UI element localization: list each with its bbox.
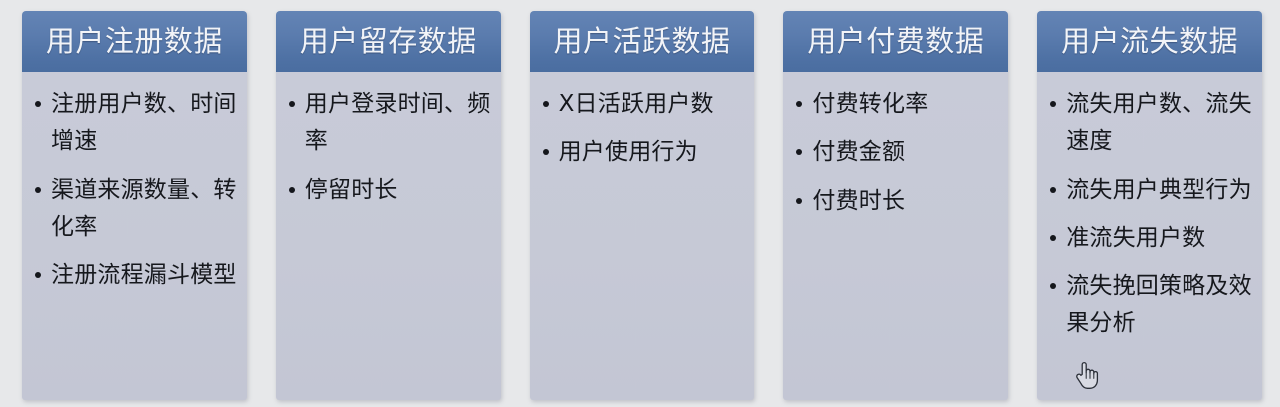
card-body-retention: 用户登录时间、频率 停留时长 (276, 72, 501, 400)
list-item-label: 流失用户数、流失速度 (1066, 91, 1252, 154)
list-item-label: 流失挽回策略及效果分析 (1066, 273, 1252, 336)
card-body-churn: 流失用户数、流失速度 流失用户典型行为 准流失用户数 流失挽回策略及效果分析 (1037, 72, 1262, 400)
card-header-payment: 用户付费数据 (783, 11, 1008, 72)
list-item: 渠道来源数量、转化率 (32, 172, 239, 247)
card-churn[interactable]: 用户流失数据 流失用户数、流失速度 流失用户典型行为 准流失用户数 流失挽回策略… (1037, 11, 1262, 400)
card-payment[interactable]: 用户付费数据 付费转化率 付费金额 付费时长 (783, 11, 1008, 400)
card-title-churn: 用户流失数据 (1061, 26, 1238, 56)
bullet-list-activity: X日活跃用户数 用户使用行为 (540, 86, 747, 172)
list-item: 流失用户典型行为 (1047, 172, 1254, 209)
bullet-list-payment: 付费转化率 付费金额 付费时长 (793, 86, 1000, 220)
list-item: 流失用户数、流失速度 (1047, 86, 1254, 161)
list-item-label: 流失用户典型行为 (1066, 177, 1252, 203)
card-retention[interactable]: 用户留存数据 用户登录时间、频率 停留时长 (276, 11, 501, 400)
bullet-dot-icon (289, 101, 295, 107)
list-item-label: 付费转化率 (812, 91, 928, 117)
list-item-label: 注册流程漏斗模型 (51, 262, 237, 288)
list-item: 流失挽回策略及效果分析 (1047, 268, 1254, 343)
bullet-list-churn: 流失用户数、流失速度 流失用户典型行为 准流失用户数 流失挽回策略及效果分析 (1047, 86, 1254, 343)
bullet-list-retention: 用户登录时间、频率 停留时长 (286, 86, 493, 209)
list-item: 付费转化率 (793, 86, 1000, 123)
list-item: 注册流程漏斗模型 (32, 257, 239, 294)
card-header-retention: 用户留存数据 (276, 11, 501, 72)
bullet-dot-icon (1050, 101, 1056, 107)
list-item: 付费金额 (793, 134, 1000, 171)
card-title-activity: 用户活跃数据 (553, 26, 730, 56)
card-title-registration: 用户注册数据 (46, 26, 223, 56)
card-header-registration: 用户注册数据 (22, 11, 247, 72)
bullet-list-registration: 注册用户数、时间增速 渠道来源数量、转化率 注册流程漏斗模型 (32, 86, 239, 294)
list-item-label: 用户使用行为 (559, 139, 698, 165)
bullet-dot-icon (1050, 187, 1056, 193)
list-item-label: 付费金额 (812, 139, 905, 165)
bullet-dot-icon (35, 187, 41, 193)
card-body-payment: 付费转化率 付费金额 付费时长 (783, 72, 1008, 400)
list-item-label: 渠道来源数量、转化率 (51, 177, 237, 240)
card-header-churn: 用户流失数据 (1037, 11, 1262, 72)
list-item-label: 用户登录时间、频率 (305, 91, 491, 154)
bullet-dot-icon (796, 101, 802, 107)
list-item-label: X日活跃用户数 (559, 91, 714, 117)
card-body-registration: 注册用户数、时间增速 渠道来源数量、转化率 注册流程漏斗模型 (22, 72, 247, 400)
card-activity[interactable]: 用户活跃数据 X日活跃用户数 用户使用行为 (530, 11, 755, 400)
bullet-dot-icon (543, 149, 549, 155)
list-item-label: 准流失用户数 (1066, 225, 1205, 251)
list-item: 付费时长 (793, 183, 1000, 220)
list-item-label: 注册用户数、时间增速 (51, 91, 237, 154)
card-body-activity: X日活跃用户数 用户使用行为 (530, 72, 755, 400)
card-registration[interactable]: 用户注册数据 注册用户数、时间增速 渠道来源数量、转化率 注册流程漏斗模型 (22, 11, 247, 400)
bullet-dot-icon (35, 272, 41, 278)
bullet-dot-icon (1050, 283, 1056, 289)
card-title-retention: 用户留存数据 (300, 26, 477, 56)
bullet-dot-icon (289, 187, 295, 193)
list-item: 注册用户数、时间增速 (32, 86, 239, 161)
bullet-dot-icon (1050, 235, 1056, 241)
list-item: X日活跃用户数 (540, 86, 747, 123)
metrics-card-board: 用户注册数据 注册用户数、时间增速 渠道来源数量、转化率 注册流程漏斗模型 用户… (0, 0, 1280, 407)
list-item: 准流失用户数 (1047, 220, 1254, 257)
bullet-dot-icon (796, 149, 802, 155)
bullet-dot-icon (35, 101, 41, 107)
list-item-label: 停留时长 (305, 177, 398, 203)
card-header-activity: 用户活跃数据 (530, 11, 755, 72)
list-item-label: 付费时长 (812, 188, 905, 214)
list-item: 用户使用行为 (540, 134, 747, 171)
list-item: 用户登录时间、频率 (286, 86, 493, 161)
bullet-dot-icon (543, 101, 549, 107)
bullet-dot-icon (796, 198, 802, 204)
card-title-payment: 用户付费数据 (807, 26, 984, 56)
list-item: 停留时长 (286, 172, 493, 209)
